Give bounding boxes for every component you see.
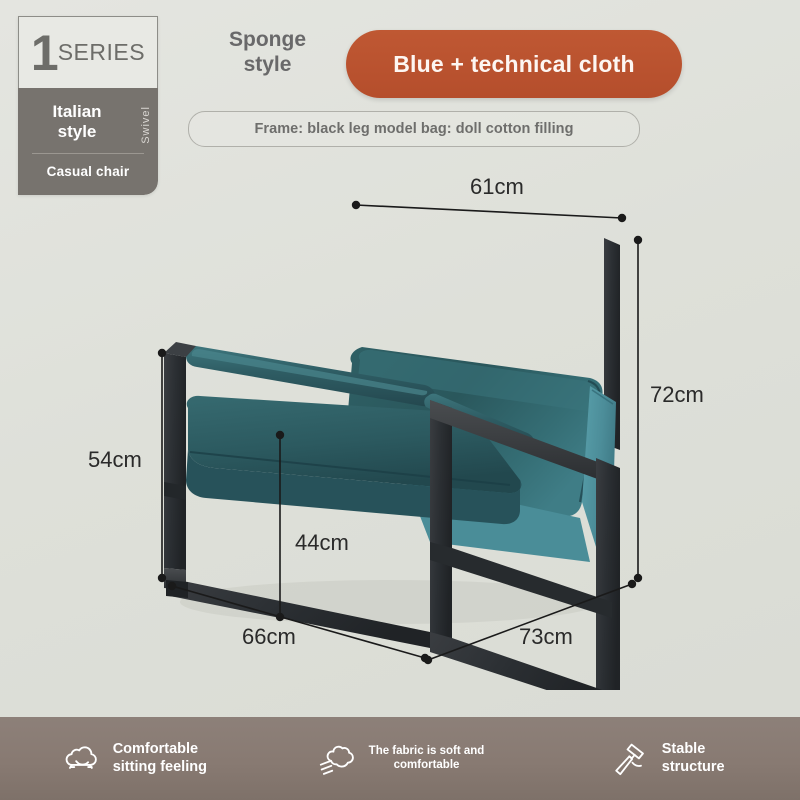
dimension-label-seat-height: 44cm <box>295 530 349 556</box>
feature-text-soft-fabric: The fabric is soft and comfortable <box>369 745 485 773</box>
series-number: 1 <box>31 28 57 78</box>
color-variant-badge: Blue + technical cloth <box>346 30 682 98</box>
color-variant-label: Blue + technical cloth <box>393 51 635 78</box>
dimdot-73-b <box>628 580 636 588</box>
dimdot-73-a <box>424 656 432 664</box>
frame-left-arm-post <box>164 353 186 570</box>
dimdot-44-a <box>276 431 284 439</box>
sponge-style-line1: Sponge <box>205 28 330 53</box>
frame-note-label: Frame: black leg model bag: doll cotton … <box>255 121 574 137</box>
frame-right-rear-post <box>596 458 620 690</box>
feature-item-soft-fabric: The fabric is soft and comfortable <box>267 738 534 780</box>
dimension-label-depth-front: 66cm <box>242 624 296 650</box>
hammer-icon <box>609 738 651 780</box>
dimension-label-width-top: 61cm <box>470 174 524 200</box>
sponge-style-line2: style <box>205 53 330 78</box>
feature-text-comfortable: Comfortable sitting feeling <box>113 741 207 776</box>
dimdot-54-a <box>158 349 166 357</box>
feature-soft-fabric-line2: comfortable <box>369 759 485 773</box>
cushion-cloud-icon <box>60 738 102 780</box>
feature-stable-line2: structure <box>662 759 725 776</box>
frame-right-front-post <box>430 400 452 650</box>
dimdot-61-a <box>352 201 360 209</box>
sponge-style-label: Sponge style <box>205 28 330 78</box>
feature-comfortable-line1: Comfortable <box>113 741 207 758</box>
frame-note-pill: Frame: black leg model bag: doll cotton … <box>188 111 640 147</box>
swivel-label: Swivel <box>140 106 152 144</box>
dimdot-61-b <box>618 214 626 222</box>
feature-item-stable-structure: Stable structure <box>533 738 800 780</box>
dimension-label-height-right: 72cm <box>650 382 704 408</box>
feature-comfortable-line2: sitting feeling <box>113 759 207 776</box>
style-label-line1: Italian <box>26 102 128 122</box>
style-label: Italian style <box>18 102 158 142</box>
series-word: SERIES <box>58 39 145 66</box>
chair-illustration <box>0 150 800 690</box>
series-number-box: 1 SERIES <box>18 16 158 88</box>
dimdot-72-a <box>634 236 642 244</box>
dimdot-66-a <box>168 582 176 590</box>
feature-item-comfortable: Comfortable sitting feeling <box>0 738 267 780</box>
dimension-label-depth-side: 73cm <box>519 624 573 650</box>
style-label-line2: style <box>26 122 128 142</box>
wind-cloud-icon <box>316 738 358 780</box>
dimline-61 <box>356 205 622 218</box>
product-image-stage: 1 SERIES Italian style Casual chair Swiv… <box>0 0 800 800</box>
dimension-label-height-left: 54cm <box>88 447 142 473</box>
feature-bar: Comfortable sitting feeling The fabric i… <box>0 717 800 800</box>
dimdot-72-b <box>634 574 642 582</box>
dimdot-54-b <box>158 574 166 582</box>
feature-soft-fabric-line1: The fabric is soft and <box>369 745 485 759</box>
feature-text-stable-structure: Stable structure <box>662 741 725 776</box>
feature-stable-line1: Stable <box>662 741 725 758</box>
